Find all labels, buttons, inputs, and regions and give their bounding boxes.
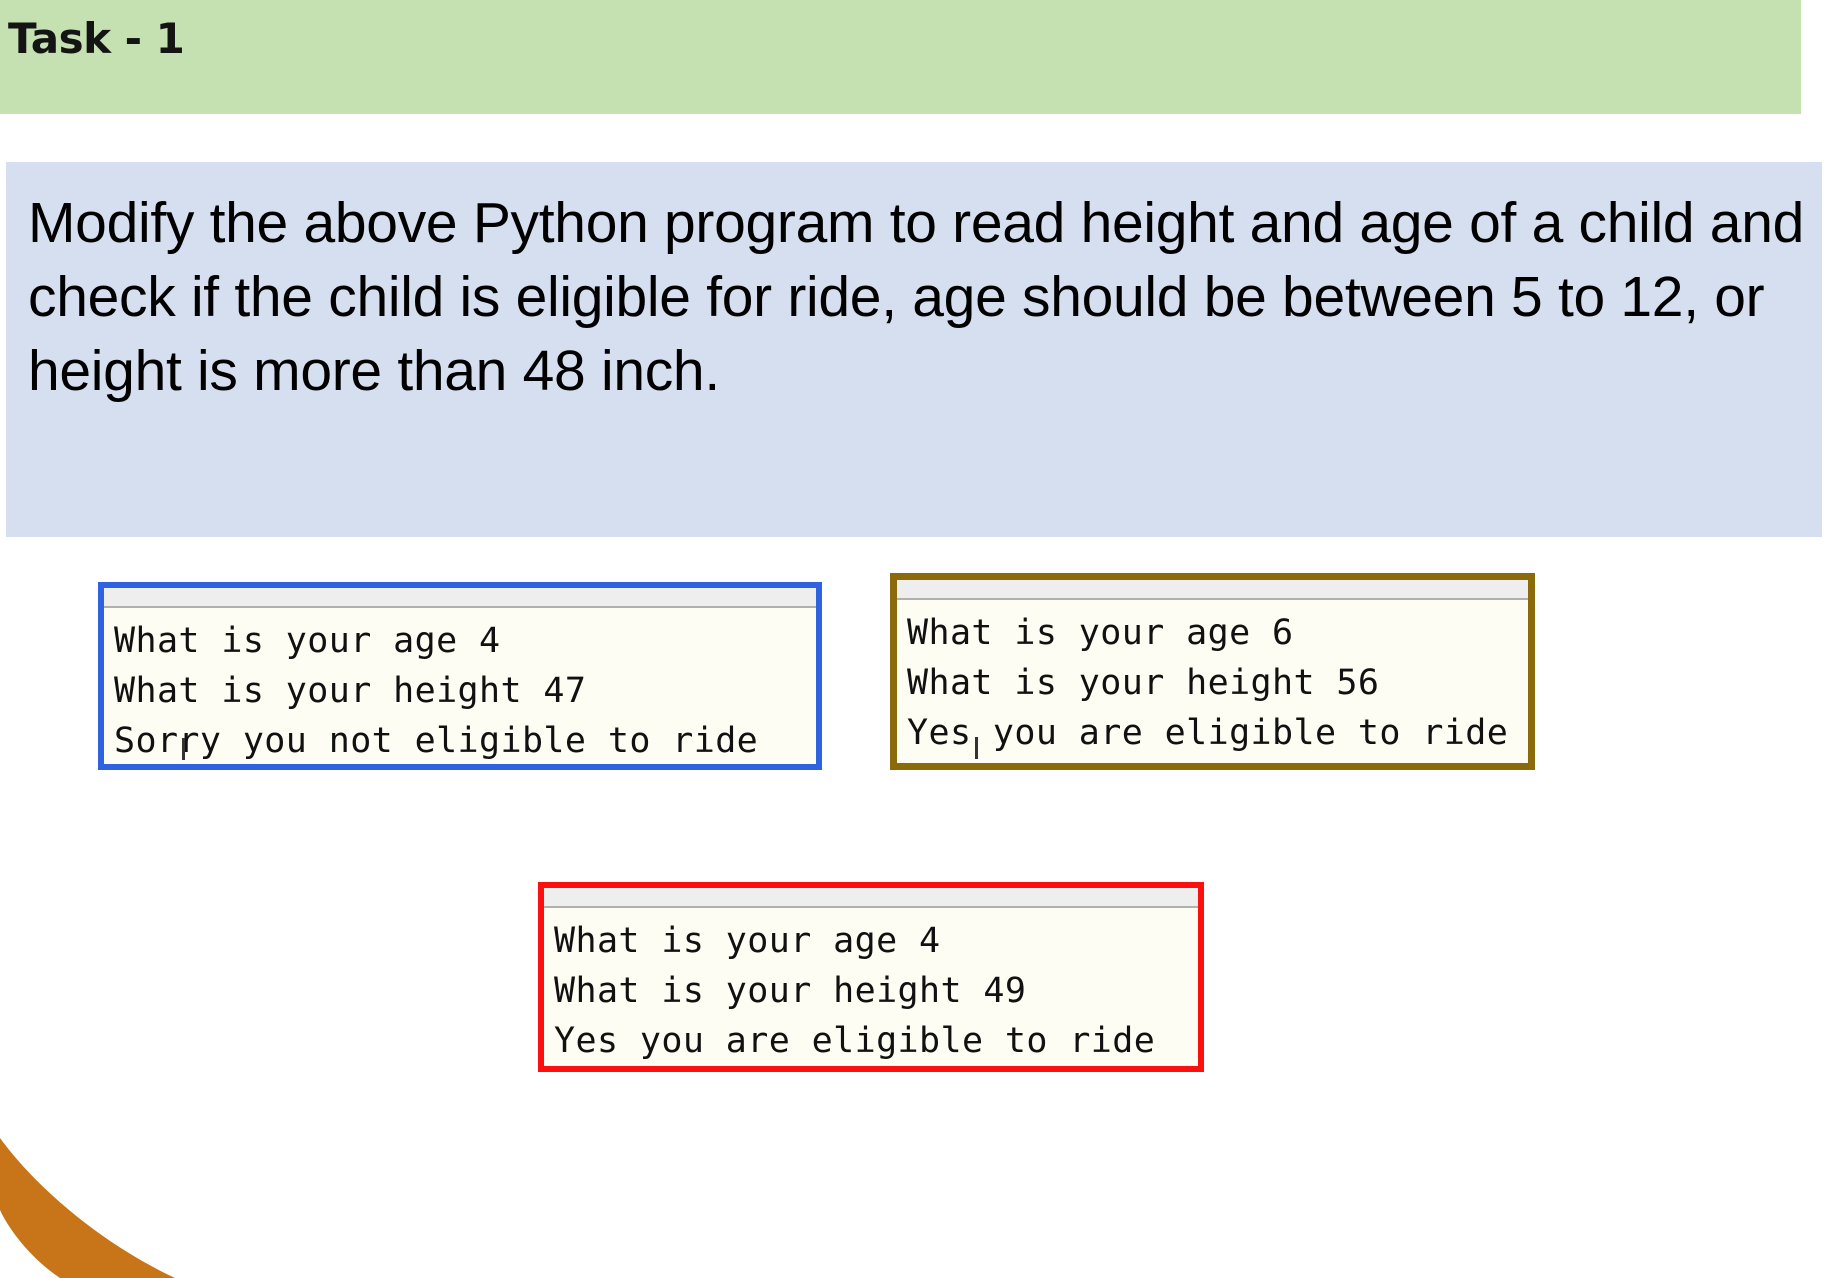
console-line: What is your age 4 bbox=[554, 916, 1198, 966]
text-cursor bbox=[975, 737, 978, 759]
corner-swoosh-decoration bbox=[0, 1098, 380, 1278]
console-output-blue: What is your age 4 What is your height 4… bbox=[98, 582, 822, 770]
console-line: What is your age 6 bbox=[907, 608, 1528, 658]
swoosh-shape bbox=[0, 1138, 175, 1278]
slide-title-bar: Task - 1 bbox=[0, 0, 1801, 114]
console-body: What is your age 6 What is your height 5… bbox=[897, 602, 1528, 763]
console-body: What is your age 4 What is your height 4… bbox=[104, 610, 816, 764]
instruction-panel: Modify the above Python program to read … bbox=[6, 162, 1822, 537]
console-output-red: What is your age 4 What is your height 4… bbox=[538, 882, 1204, 1072]
console-line: What is your height 47 bbox=[114, 666, 816, 716]
console-line: Yes you are eligible to ride bbox=[554, 1016, 1198, 1066]
console-titlebar bbox=[897, 580, 1528, 600]
console-line: What is your height 49 bbox=[554, 966, 1198, 1016]
text-cursor bbox=[182, 738, 185, 760]
console-line: Sorry you not eligible to ride bbox=[114, 716, 816, 766]
console-line: What is your age 4 bbox=[114, 616, 816, 666]
page-title: Task - 1 bbox=[8, 14, 184, 63]
console-output-gold: g pp What is your age 6 What is your hei… bbox=[890, 573, 1535, 770]
console-line: What is your height 56 bbox=[907, 658, 1528, 708]
console-titlebar bbox=[544, 888, 1198, 908]
instruction-text: Modify the above Python program to read … bbox=[28, 186, 1804, 408]
console-titlebar bbox=[104, 588, 816, 608]
console-line: Yes you are eligible to ride bbox=[907, 708, 1528, 758]
console-body: What is your age 4 What is your height 4… bbox=[544, 910, 1198, 1066]
